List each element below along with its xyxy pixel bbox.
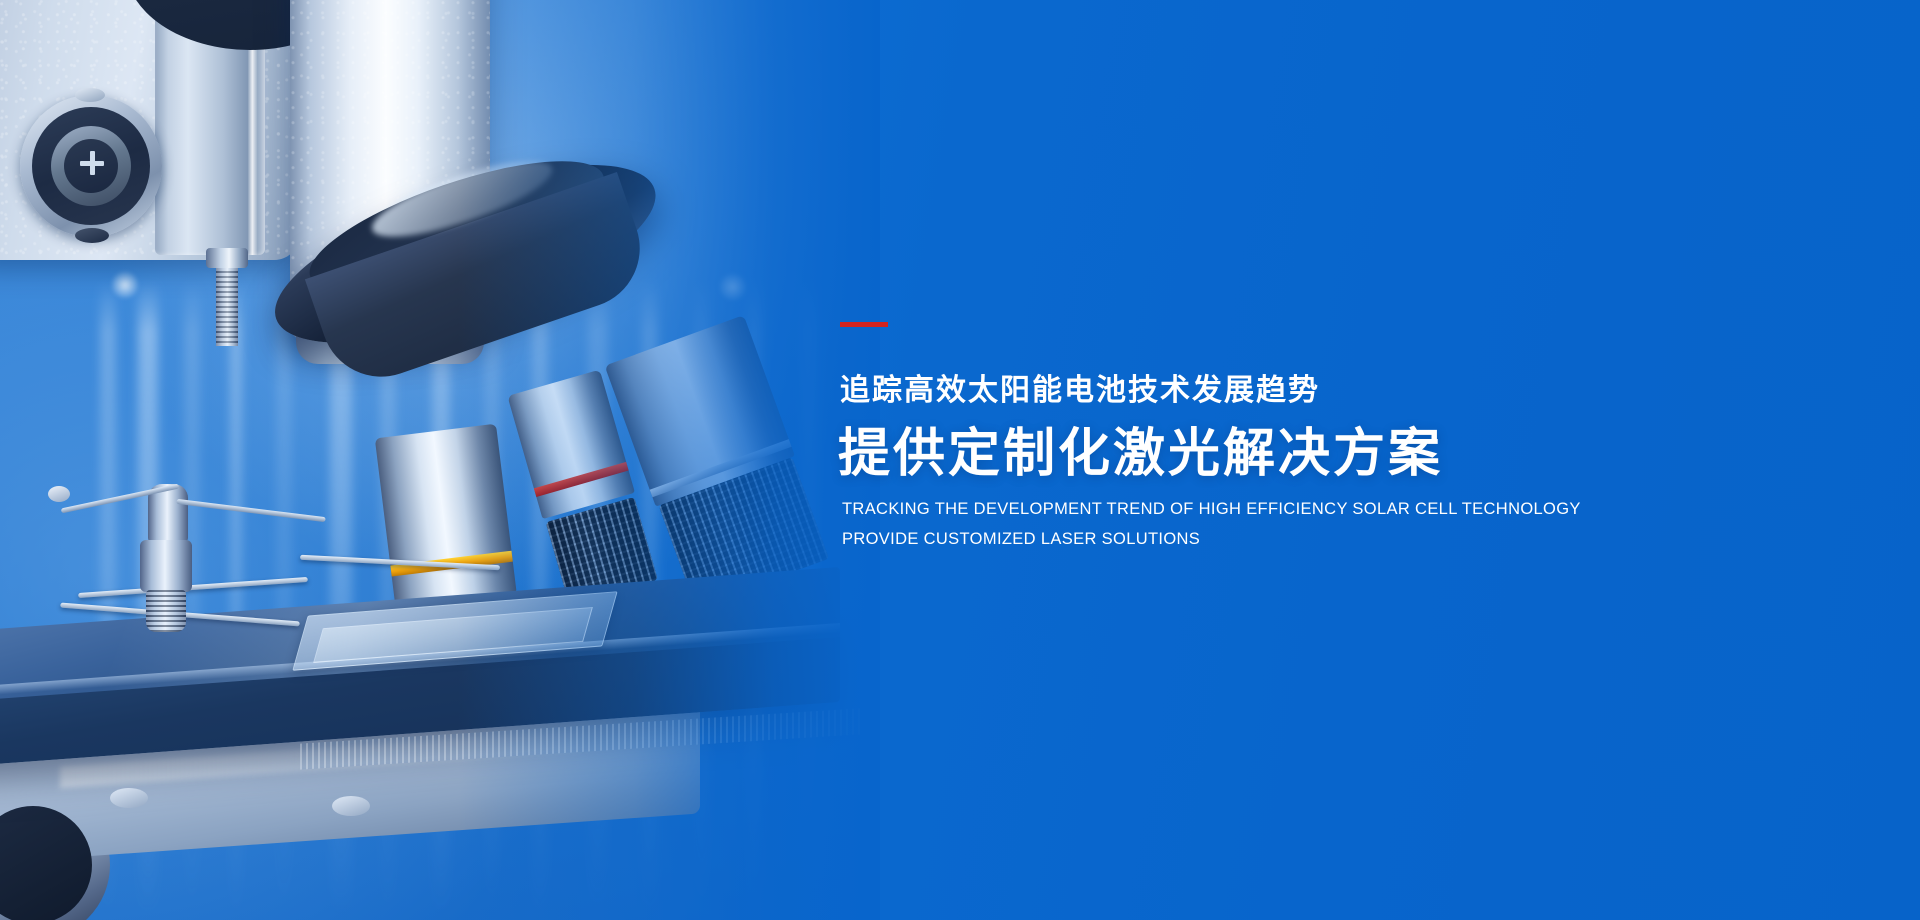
stage-lever-knob	[48, 486, 70, 502]
phillips-screw-icon	[80, 151, 104, 175]
banner-subtitle-line1: TRACKING THE DEVELOPMENT TREND OF HIGH E…	[842, 500, 1581, 519]
coarse-focus-knob	[20, 95, 162, 237]
hero-banner: 追踪高效太阳能电池技术发展趋势 提供定制化激光解决方案 TRACKING THE…	[0, 0, 1920, 920]
arm-screw-bottom	[75, 228, 109, 243]
adjust-screw	[216, 256, 238, 346]
banner-subtitle-line2: PROVIDE CUSTOMIZED LASER SOLUTIONS	[842, 530, 1200, 549]
microscope-photo	[0, 0, 880, 920]
banner-text-block: 追踪高效太阳能电池技术发展趋势 提供定制化激光解决方案 TRACKING THE…	[840, 0, 1920, 920]
banner-headline: 提供定制化激光解决方案	[838, 423, 1443, 485]
banner-kicker: 追踪高效太阳能电池技术发展趋势	[840, 373, 1320, 409]
stage-knob-bottom	[146, 590, 186, 632]
adjust-screw-head	[206, 248, 248, 268]
base-foot-right	[332, 796, 370, 816]
stage-knob-mid	[140, 540, 192, 592]
arm-screw-top	[75, 88, 105, 102]
objective-barrel	[375, 424, 517, 608]
base-foot-left	[110, 788, 148, 808]
accent-rule	[840, 322, 888, 327]
